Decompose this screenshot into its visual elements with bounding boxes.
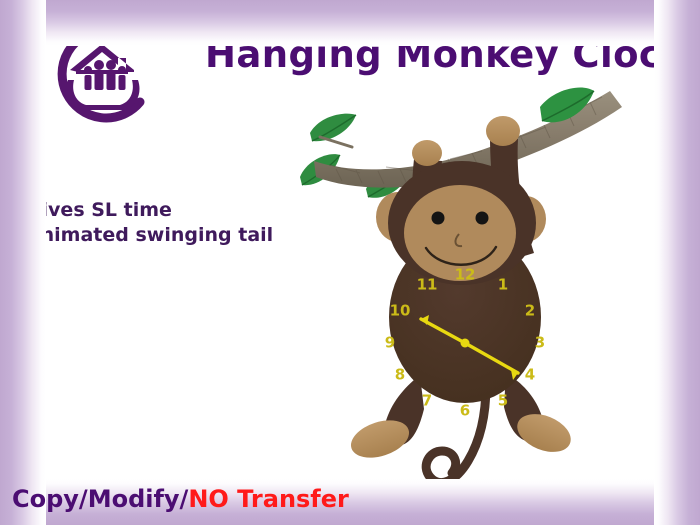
clock-numeral: 11	[417, 276, 438, 294]
feature-item: *Gives SL time	[16, 198, 273, 223]
monkey-hand-right	[486, 116, 520, 146]
product-advertisement-card: 12 1 2 3 4 5 6 7 8 9 10 11	[0, 0, 700, 525]
leaf-icon	[310, 114, 356, 142]
feature-item: *Animated swinging tail	[16, 223, 273, 248]
clock-numeral: 4	[525, 366, 535, 384]
clock-numeral: 7	[422, 392, 432, 410]
clock-numeral: 2	[525, 302, 535, 320]
family-icon	[84, 60, 126, 90]
hanging-monkey-illustration: 12 1 2 3 4 5 6 7 8 9 10 11	[290, 85, 690, 485]
permissions-allowed: Copy/Modify/	[12, 485, 188, 513]
clock-numeral: 10	[390, 302, 411, 320]
clock-numeral: 6	[460, 402, 470, 420]
clock-numeral: 12	[455, 266, 476, 284]
clock-numeral: 9	[385, 334, 395, 352]
branch-twig	[320, 137, 352, 147]
brand-logo: Live·Love·Jailina	[8, 6, 188, 126]
clock-numeral: 8	[395, 366, 405, 384]
monkey-hand-left	[412, 140, 442, 166]
page-title: Hanging Monkey Clock	[205, 33, 675, 76]
clock-numeral: 3	[535, 334, 545, 352]
permissions-line: Copy/Modify/NO Transfer	[12, 485, 349, 513]
clock-numeral: 5	[498, 392, 508, 410]
monkey-clock-svg: 12 1 2 3 4 5 6 7 8 9 10 11	[290, 85, 690, 485]
clock-center-pin	[461, 339, 470, 348]
clock-numeral: 1	[498, 276, 508, 294]
monkey-eye-right	[476, 212, 489, 225]
monkey-eye-left	[432, 212, 445, 225]
permissions-denied: NO Transfer	[188, 485, 349, 513]
feature-list: *Gives SL time *Animated swinging tail	[16, 198, 273, 248]
brand-logo-svg: Live·Love·Jailina	[8, 6, 188, 126]
